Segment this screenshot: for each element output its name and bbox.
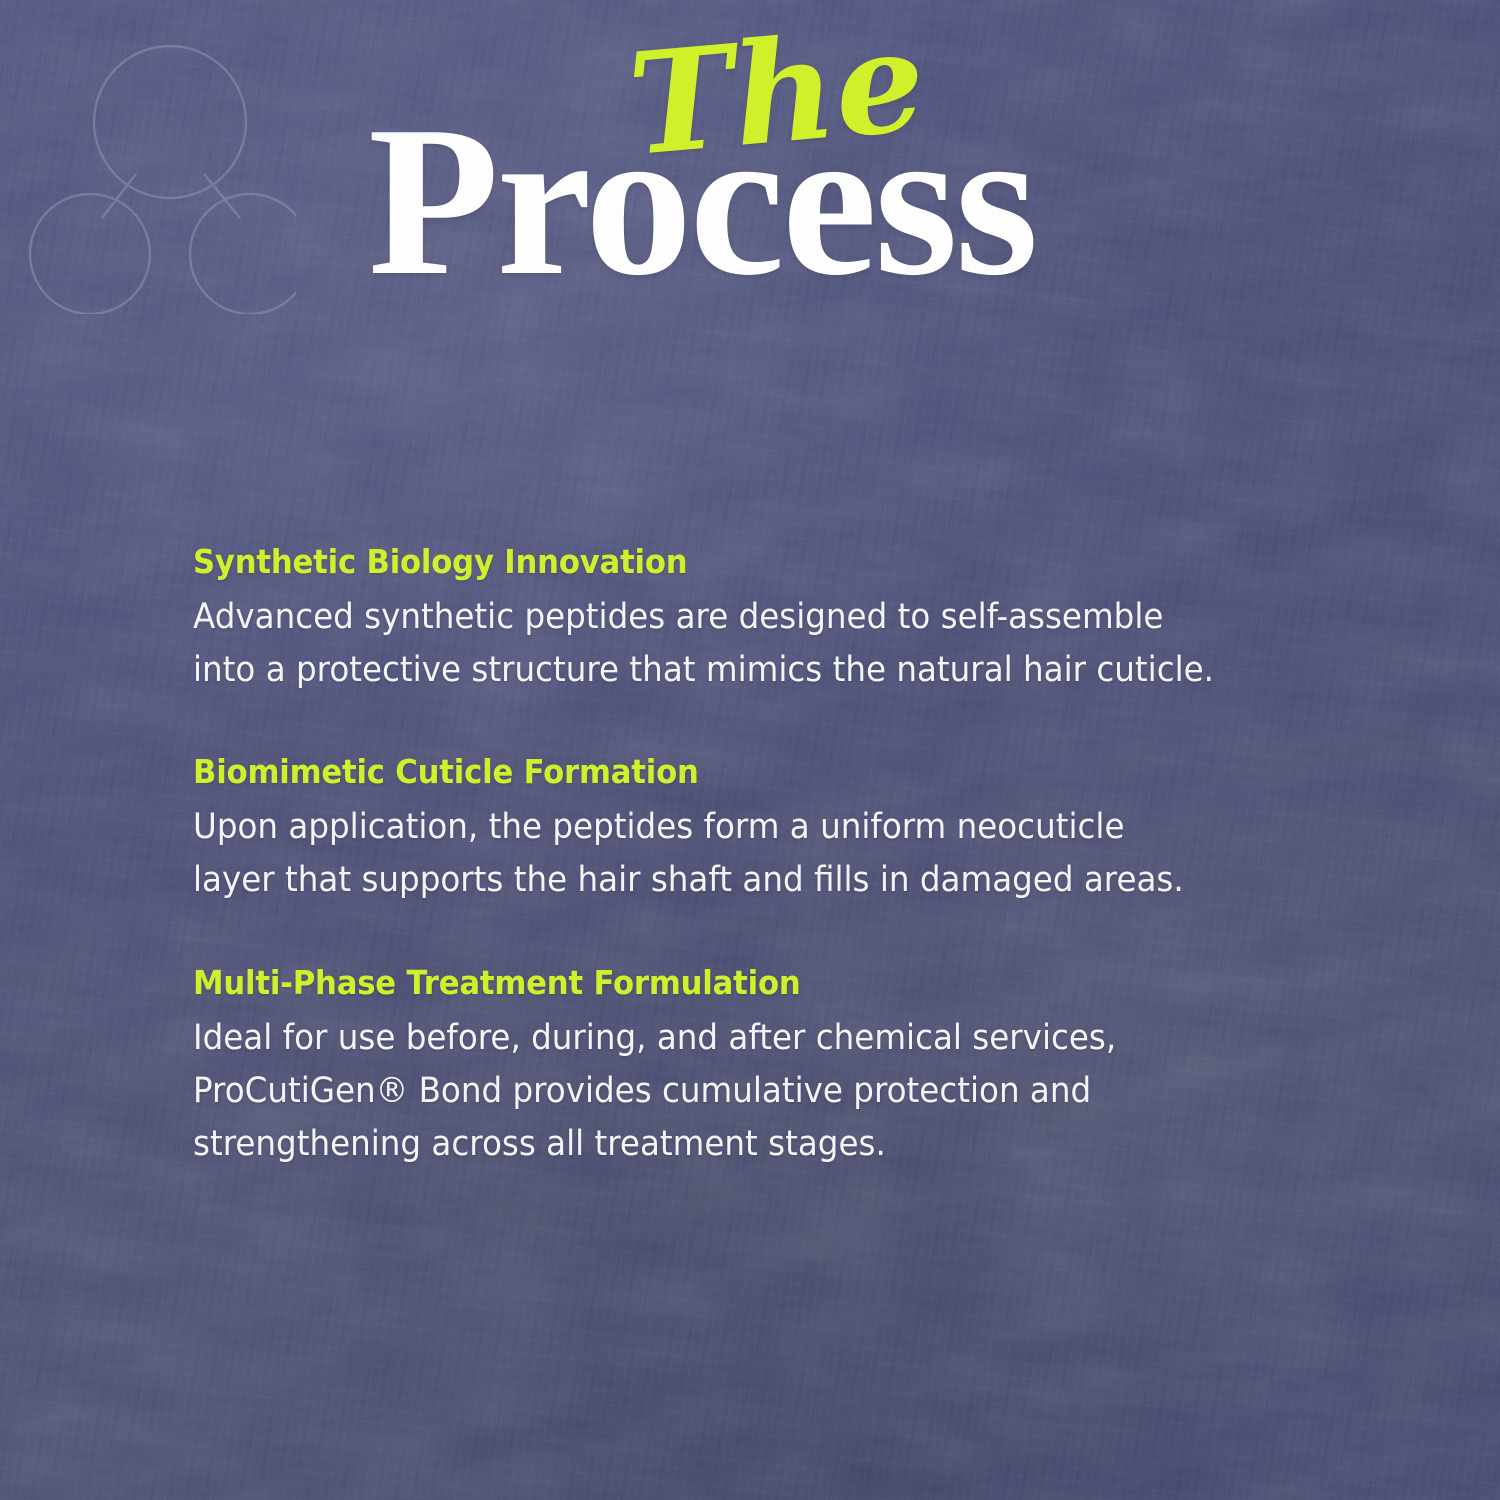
section-body: Ideal for use before, during, and after …: [193, 1012, 1290, 1172]
process-section-1: Synthetic Biology Innovation Advanced sy…: [193, 543, 1373, 697]
section-body-line: strengthening across all treatment stage…: [193, 1118, 1290, 1171]
section-body-line: Ideal for use before, during, and after …: [193, 1012, 1290, 1065]
section-body-line: ProCutiGen® Bond provides cumulative pro…: [193, 1065, 1290, 1118]
process-section-2: Biomimetic Cuticle Formation Upon applic…: [193, 753, 1373, 907]
section-heading: Biomimetic Cuticle Formation: [193, 753, 1290, 792]
title-script-word: The: [624, 11, 930, 176]
process-section-3: Multi-Phase Treatment Formulation Ideal …: [193, 964, 1373, 1172]
page-title: Process The: [0, 0, 1500, 340]
section-body-line: Upon application, the peptides form a un…: [193, 801, 1290, 854]
section-heading: Multi-Phase Treatment Formulation: [193, 964, 1290, 1003]
section-heading: Synthetic Biology Innovation: [193, 543, 1290, 582]
section-body-line: Advanced synthetic peptides are designed…: [193, 591, 1290, 644]
section-body-line: layer that supports the hair shaft and f…: [193, 854, 1290, 907]
slide-canvas: Process The Synthetic Biology Innovation…: [0, 0, 1500, 1500]
section-body-line: into a protective structure that mimics …: [193, 644, 1290, 697]
process-sections-list: Synthetic Biology Innovation Advanced sy…: [193, 543, 1373, 1171]
section-body: Upon application, the peptides form a un…: [193, 801, 1290, 907]
section-body: Advanced synthetic peptides are designed…: [193, 591, 1290, 697]
